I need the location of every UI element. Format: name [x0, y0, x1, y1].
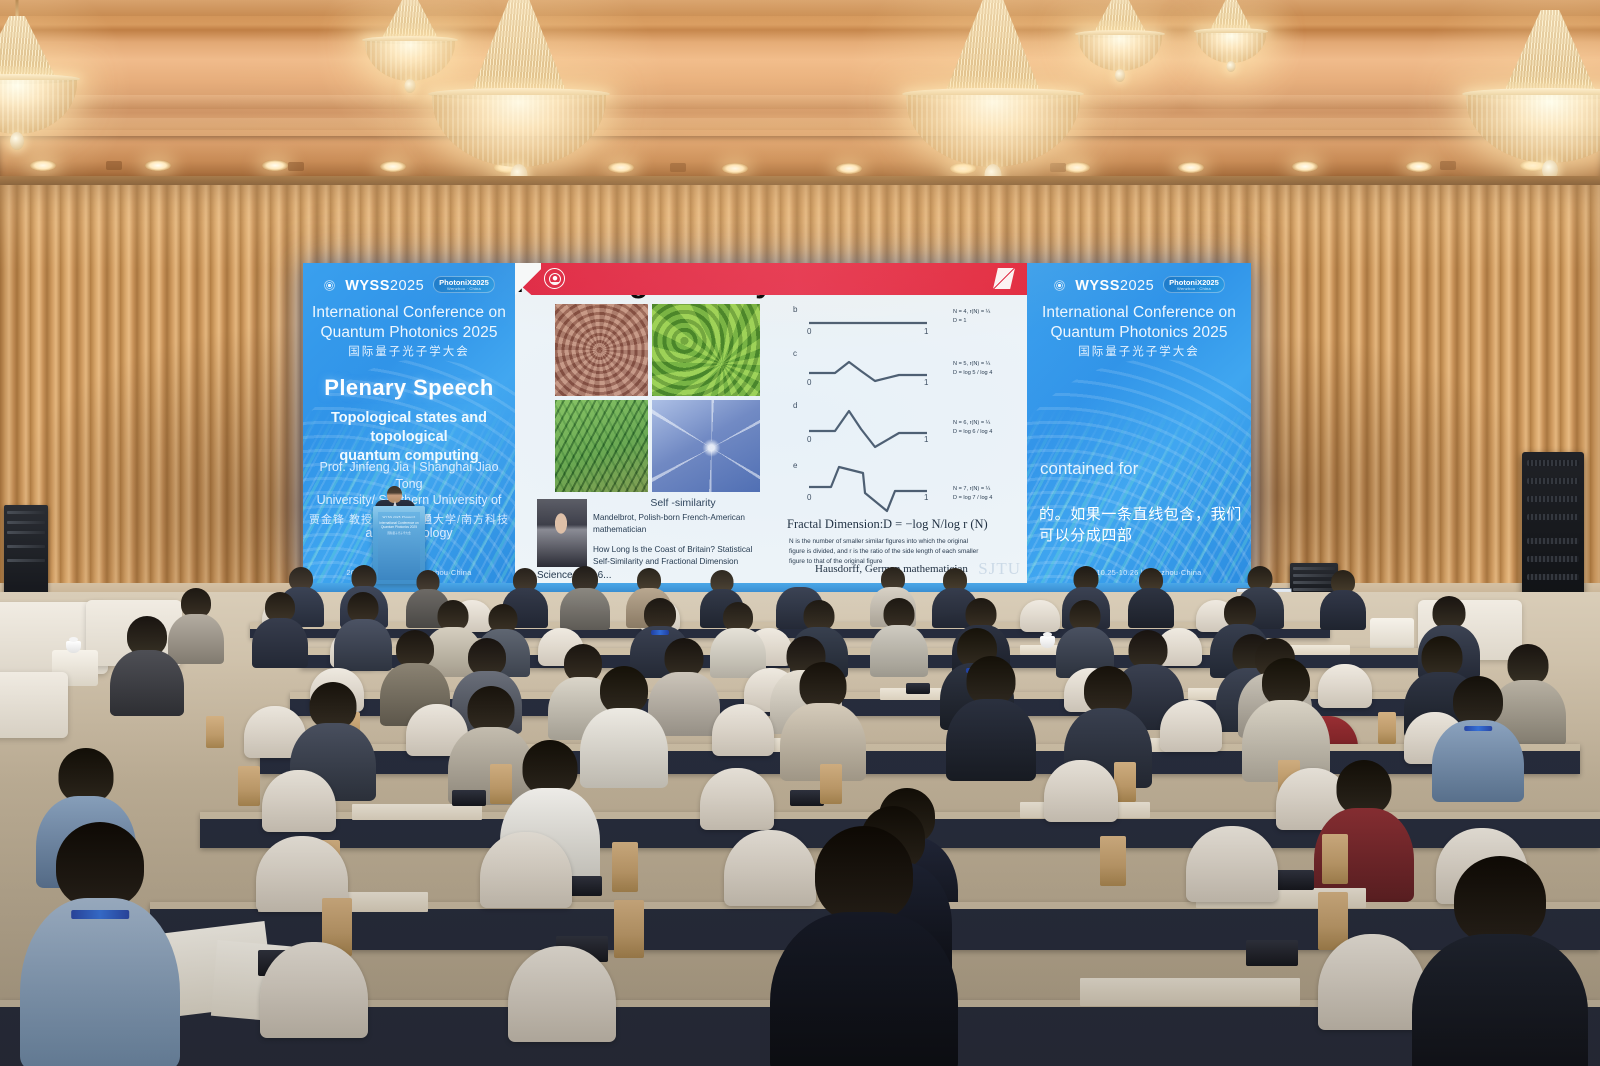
- person-head: [1084, 666, 1132, 714]
- right-title-cn: 国际量子光子学大会: [1027, 343, 1251, 359]
- chair: [1020, 600, 1060, 632]
- talk-title: Topological states and topological quant…: [303, 409, 515, 466]
- mandelbrot-desc-line1: Mandelbrot, Polish-born French-American: [593, 512, 779, 524]
- curve-axis-start-b: 0: [807, 327, 811, 336]
- coastline-paper-title: How Long Is the Coast of Britain? Statis…: [593, 544, 783, 567]
- wyss-wordmark: WYSS2025: [345, 278, 424, 294]
- chair: [1044, 760, 1118, 822]
- audience-member: [1056, 600, 1114, 674]
- placemat: [1080, 978, 1300, 1006]
- chair: [700, 768, 774, 830]
- person-head: [1337, 760, 1392, 815]
- curve-letter-e: e: [793, 461, 797, 470]
- chair: [262, 770, 336, 832]
- person-torso: [1320, 590, 1366, 630]
- left-title-line1: International Conference on: [303, 303, 515, 323]
- curve-plot-b: [803, 311, 933, 337]
- chandelier: [419, 0, 619, 196]
- curve-n-e: N = 7, r(N) = ¼: [953, 485, 990, 493]
- curve-letter-c: c: [793, 349, 797, 358]
- definition-line1: N is the number of smaller similar figur…: [789, 537, 1021, 547]
- water-bottle: [206, 716, 224, 748]
- water-bottle: [1322, 834, 1348, 884]
- paper-line2: Self-Similarity and Fractional Dimension: [593, 556, 783, 568]
- audience-member: [252, 592, 308, 664]
- mandelbrot-description: Mandelbrot, Polish-born French-American …: [593, 512, 779, 535]
- left-panel-logo-row: WYSS2025 PhotoniX2025 Wenzhou · China: [303, 277, 515, 294]
- lanyard: [71, 910, 129, 919]
- wyss-flower-icon: [1053, 279, 1066, 292]
- microphone-base: [452, 790, 486, 806]
- person-torso: [20, 898, 180, 1066]
- fractal-dimension-formula: D = −log N/log r (N): [883, 517, 988, 532]
- lanyard: [651, 630, 669, 635]
- fern-leaf-photo: [555, 400, 648, 492]
- person-head: [967, 656, 1016, 705]
- person-head: [310, 682, 357, 729]
- screen-right-panel: WYSS2025 PhotoniX2025 Wenzhou · China In…: [1027, 263, 1251, 583]
- curve-n-d: N = 6, r(N) = ¼: [953, 419, 990, 427]
- right-title-line2: Quantum Photonics 2025: [1027, 323, 1251, 343]
- microphone-base: [790, 790, 824, 806]
- presenting-speaker-head: [387, 486, 402, 503]
- curve-axis-end-b: 1: [924, 327, 928, 336]
- ceiling-vent: [106, 161, 122, 170]
- wyss-flower-icon: [323, 279, 336, 292]
- slide-watermark: SJTU: [978, 559, 1021, 579]
- person-torso: [1432, 720, 1524, 802]
- photonix-sub: Wenzhou · China: [1169, 287, 1219, 291]
- chandelier: [0, 0, 92, 190]
- person-head: [56, 822, 144, 908]
- speaker-line-1: Prof. Jinfeng Jia | Shanghai Jiao Tong: [313, 459, 505, 492]
- photonix-logo: PhotoniX2025 Wenzhou · China: [1163, 276, 1225, 293]
- wyss-brand: WYSS: [1075, 278, 1120, 294]
- person-head: [1454, 856, 1546, 944]
- curve-axis-start-d: 0: [807, 435, 811, 444]
- pinecone-spiral-photo: [555, 304, 648, 396]
- curve-letter-d: d: [793, 401, 797, 410]
- audience-member: [870, 598, 928, 674]
- curve-d-c: D = log 5 / log 4: [953, 369, 992, 377]
- curve-d-b: D = 1: [953, 317, 967, 325]
- water-bottle: [614, 900, 644, 958]
- audience-member: [1320, 570, 1366, 628]
- screen-center-slide: Fractal geometry Self -similarity Mandel…: [515, 263, 1027, 583]
- left-conference-title: International Conference on Quantum Phot…: [303, 303, 515, 343]
- mandelbrot-portrait-photo: [537, 499, 587, 567]
- podium-logo-text: WYSS 2025 PhotoniX: [383, 515, 416, 519]
- fractal-dimension-label: Fractal Dimension:: [787, 517, 883, 532]
- caption-en: contained for: [1027, 459, 1251, 479]
- person-torso: [770, 912, 958, 1066]
- person-head: [800, 662, 847, 709]
- placemat: [352, 804, 482, 820]
- definition-line2: figure is divided, and r is the ratio of…: [789, 547, 1021, 557]
- curve-axis-end-d: 1: [924, 435, 928, 444]
- audience-member: [560, 566, 610, 626]
- chandelier: [1186, 0, 1276, 108]
- downlight: [836, 163, 862, 174]
- microphone-base: [906, 683, 930, 694]
- curve-plot-d: [803, 405, 933, 453]
- curve-axis-start-e: 0: [807, 493, 811, 502]
- ceiling-vent: [670, 163, 686, 172]
- audience-member: [110, 616, 184, 712]
- audience-member: [1432, 676, 1524, 796]
- audience-member: [770, 826, 958, 1066]
- slide-header-notch: [515, 263, 541, 295]
- downlight: [262, 160, 288, 171]
- curve-d-e: D = log 7 / log 4: [953, 494, 992, 502]
- water-bottle: [820, 764, 842, 804]
- slide-header-bar: [515, 263, 1027, 295]
- koch-curve-row-d: d 0 1 N = 6, r(N) = ¼ D = log 6 / log 4: [793, 401, 1023, 455]
- wyss-year: 2025: [390, 278, 424, 294]
- ceiling-soffit: [0, 136, 1600, 178]
- person-head: [815, 826, 913, 922]
- ceiling-vent: [288, 162, 304, 171]
- audience-member: [1128, 568, 1174, 626]
- person-torso: [1128, 588, 1174, 628]
- person-torso: [252, 618, 308, 668]
- curve-letter-b: b: [793, 305, 797, 314]
- led-screen: WYSS2025 PhotoniX2025 Wenzhou · China In…: [303, 263, 1251, 583]
- paper-line1: How Long Is the Coast of Britain? Statis…: [593, 544, 783, 556]
- chandelier: [893, 0, 1093, 196]
- person-torso: [946, 699, 1036, 781]
- water-bottle: [1378, 712, 1396, 744]
- person-head: [1453, 676, 1503, 726]
- romanesco-broccoli-photo: [652, 304, 760, 396]
- audience-member: [1242, 658, 1330, 776]
- curve-axis-end-e: 1: [924, 493, 928, 502]
- curve-plot-c: [803, 353, 933, 387]
- downlight: [380, 161, 406, 172]
- chair: [712, 704, 774, 756]
- wyss-year: 2025: [1120, 278, 1154, 294]
- curve-axis-start-c: 0: [807, 378, 811, 387]
- snowflake-photo: [652, 400, 760, 492]
- audience-member: [946, 656, 1036, 776]
- curve-n-b: N = 4, r(N) = ¼: [953, 308, 990, 316]
- right-title-line1: International Conference on: [1027, 303, 1251, 323]
- curve-d-d: D = log 6 / log 4: [953, 428, 992, 436]
- panel-stripe-decor: [1027, 404, 1251, 583]
- talk-title-line1: Topological states and topological: [317, 409, 501, 447]
- audience-member: [1412, 856, 1588, 1066]
- ceiling-vent: [1440, 161, 1456, 170]
- chair: [1160, 700, 1222, 752]
- chandelier: [1455, 10, 1600, 200]
- koch-curve-row-b: b 0 1 N = 4, r(N) = ¼ D = 1: [793, 305, 1023, 339]
- curve-n-c: N = 5, r(N) = ¼: [953, 360, 990, 368]
- downlight: [1292, 161, 1318, 172]
- equipment-rack: [4, 505, 48, 597]
- microphone-base: [1246, 940, 1298, 966]
- lanyard: [1464, 726, 1492, 731]
- sjtu-seal-icon: [544, 268, 565, 289]
- photonix-logo: PhotoniX2025 Wenzhou · China: [433, 276, 495, 293]
- water-bottle: [238, 766, 260, 806]
- person-head: [468, 686, 515, 733]
- person-torso: [870, 625, 928, 677]
- person-torso: [1412, 934, 1588, 1066]
- downlight: [722, 163, 748, 174]
- downlight: [1406, 161, 1432, 172]
- water-bottle: [612, 842, 638, 892]
- podium-title-line: International Conference on Quantum Phot…: [378, 521, 420, 529]
- wyss-wordmark: WYSS2025: [1075, 278, 1154, 294]
- wyss-brand: WYSS: [345, 278, 390, 294]
- person-head: [1262, 658, 1310, 706]
- person-head: [600, 666, 648, 714]
- lounge-sofa: [0, 672, 68, 738]
- person-torso: [560, 588, 610, 630]
- audience-member: [20, 822, 180, 1066]
- caption-cn: 的。如果一条直线包含，我们可以分成四部: [1027, 503, 1251, 545]
- photonix-sub: Wenzhou · China: [439, 287, 489, 291]
- microphone-base: [1272, 870, 1314, 890]
- audience-member: [780, 662, 866, 776]
- conference-hall-photo: WYSS2025 PhotoniX2025 Wenzhou · China In…: [0, 0, 1600, 1066]
- koch-curve-row-c: c 0 1 N = 5, r(N) = ¼ D = log 5 / log 4: [793, 349, 1023, 391]
- person-head: [523, 740, 578, 795]
- chandelier: [1065, 0, 1175, 124]
- person-head: [1422, 636, 1463, 677]
- left-title-line2: Quantum Photonics 2025: [303, 323, 515, 343]
- mandelbrot-desc-line2: mathematician: [593, 524, 779, 536]
- curve-axis-end-c: 1: [924, 378, 928, 387]
- koch-curve-row-e: e 0 1 N = 7, r(N) = ¼ D = log 7 / log 4: [793, 459, 1023, 519]
- left-title-cn: 国际量子光子学大会: [303, 343, 515, 359]
- podium-subtitle-line: 国际量子光子学大会: [387, 531, 410, 535]
- self-similarity-label: Self -similarity: [593, 497, 773, 509]
- right-panel-logo-row: WYSS2025 PhotoniX2025 Wenzhou · China: [1027, 277, 1251, 294]
- downlight: [1178, 162, 1204, 173]
- downlight: [145, 160, 171, 171]
- curve-plot-e: [803, 461, 933, 517]
- person-head: [59, 748, 114, 803]
- person-torso: [110, 650, 184, 716]
- water-bottle: [1100, 836, 1126, 886]
- right-conference-title: International Conference on Quantum Phot…: [1027, 303, 1251, 343]
- session-label: Plenary Speech: [303, 375, 515, 401]
